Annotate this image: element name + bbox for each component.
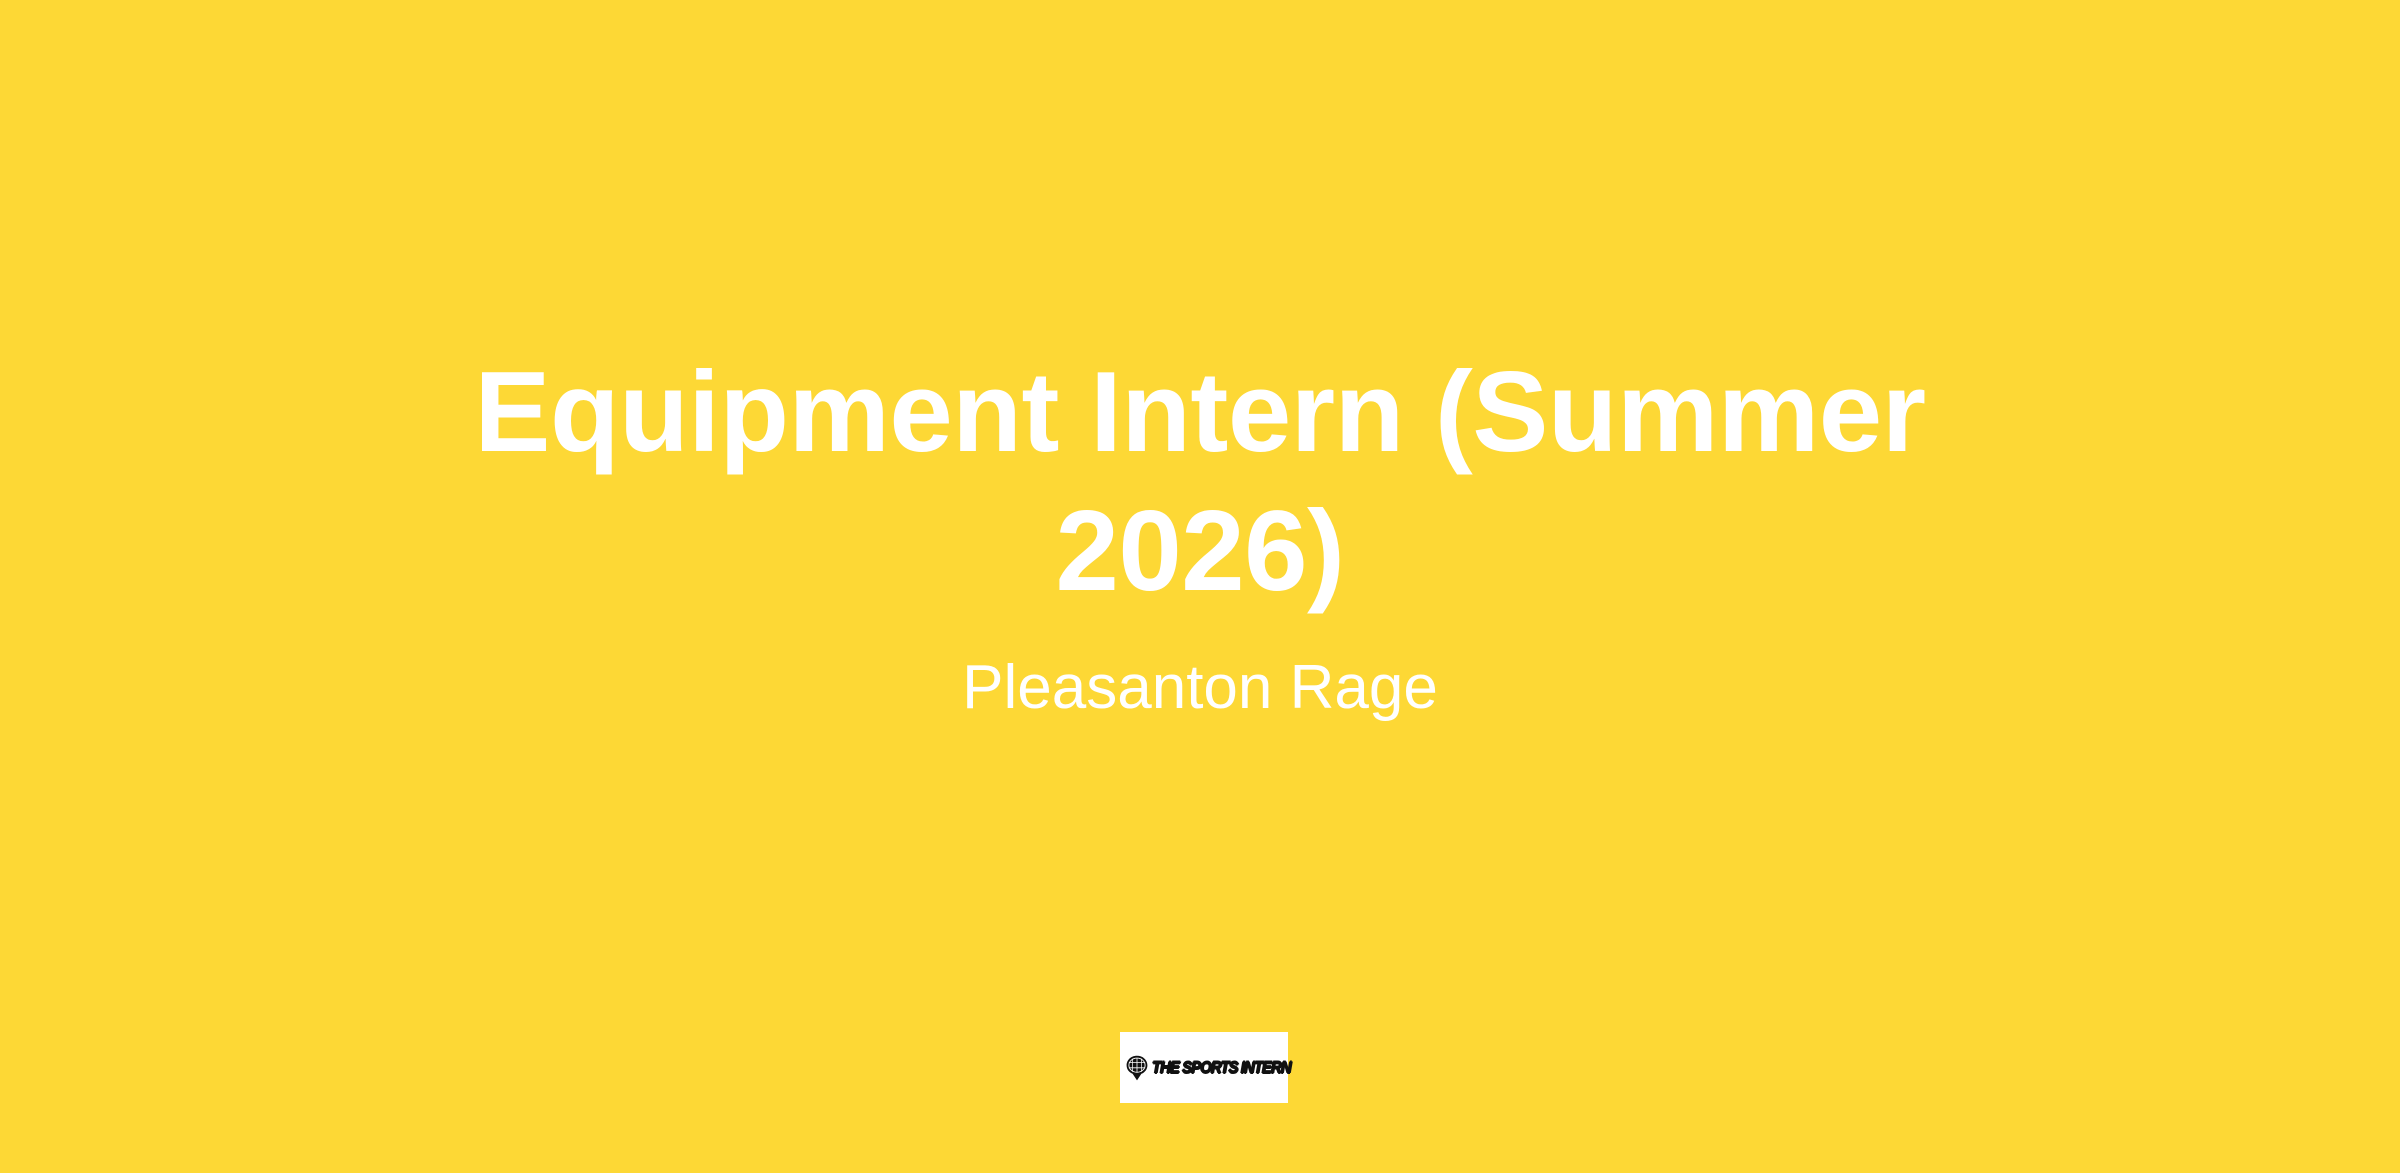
brand-logo: THE SPORTS INTERN [1120, 1032, 1288, 1103]
brand-wordmark: THE SPORTS INTERN [1152, 1059, 1291, 1076]
job-posting-card: Equipment Intern (Summer 2026) Pleasanto… [0, 0, 2400, 1173]
headline-block: Equipment Intern (Summer 2026) Pleasanto… [0, 0, 2400, 1030]
whistle-badge-icon [1125, 1055, 1149, 1081]
page-title: Equipment Intern (Summer 2026) [460, 343, 1940, 621]
organization-name: Pleasanton Rage [400, 649, 2000, 727]
